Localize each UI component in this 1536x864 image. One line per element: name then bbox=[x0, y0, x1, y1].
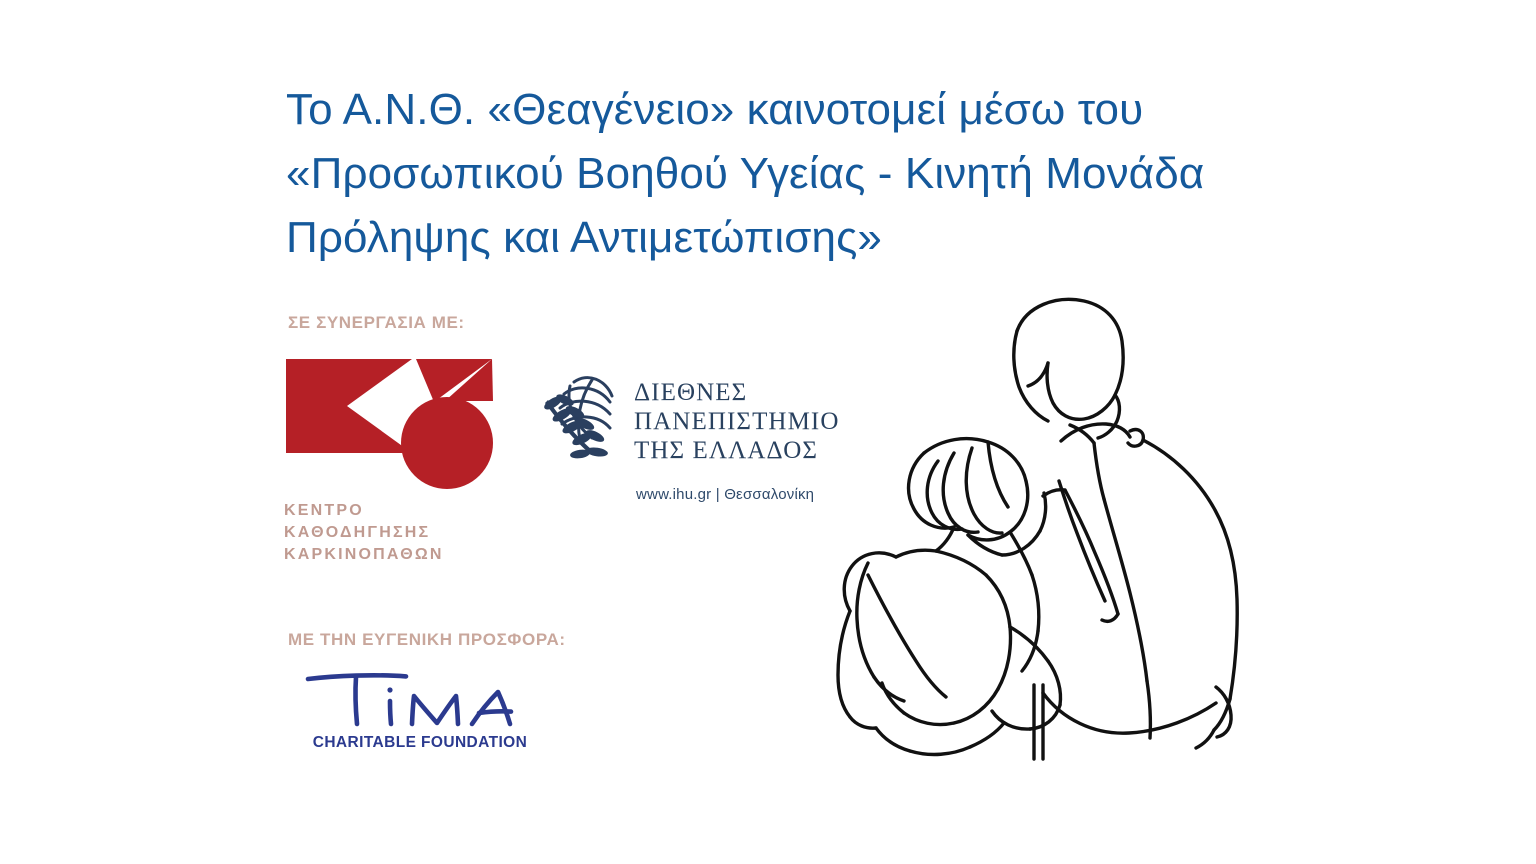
kkk-word-line-1: ΚΕΝΤΡΟ bbox=[284, 500, 499, 522]
ihu-word-line-3: ΤΗΣ ΕΛΛΑΔΟΣ bbox=[634, 436, 840, 465]
line-art-couple-embracing-illustration bbox=[812, 283, 1272, 765]
ihu-website-and-city: www.ihu.gr | Θεσσαλονίκη bbox=[636, 486, 840, 503]
tima-subtitle: CHARITABLE FOUNDATION bbox=[300, 734, 540, 752]
partners-label: ΣΕ ΣΥΝΕΡΓΑΣΙΑ ΜΕ: bbox=[288, 313, 465, 333]
logo-kentro-kathodigisis-karkinopathon: ΚΕΝΤΡΟ ΚΑΘΟΔΗΓΗΣΗΣ ΚΑΡΚΙΝΟΠΑΘΩΝ bbox=[284, 357, 499, 557]
ihu-olive-branch-globe-icon bbox=[540, 370, 624, 474]
title-line-2: «Προσωπικού Βοηθού Υγείας - Κινητή Μονάδ… bbox=[286, 142, 1296, 206]
ihu-word-line-2: ΠΑΝΕΠΙΣΤΗΜΙΟ bbox=[634, 407, 840, 436]
title-line-3: Πρόληψης και Αντιμετώπισης» bbox=[286, 206, 1296, 270]
donor-label: ΜΕ ΤΗΝ ΕΥΓΕΝΙΚΗ ΠΡΟΣΦΟΡΑ: bbox=[288, 630, 566, 650]
ihu-word-line-1: ΔΙΕΘΝΕΣ bbox=[634, 378, 840, 407]
slide-title: Το Α.Ν.Θ. «Θεαγένειο» καινοτομεί μέσω το… bbox=[286, 78, 1296, 270]
presentation-slide: Το Α.Ν.Θ. «Θεαγένειο» καινοτομεί μέσω το… bbox=[0, 0, 1536, 864]
logo-international-hellenic-university: ΔΙΕΘΝΕΣ ΠΑΝΕΠΙΣΤΗΜΙΟ ΤΗΣ ΕΛΛΑΔΟΣ www.ihu… bbox=[540, 368, 840, 513]
ihu-wordmark: ΔΙΕΘΝΕΣ ΠΑΝΕΠΙΣΤΗΜΙΟ ΤΗΣ ΕΛΛΑΔΟΣ bbox=[634, 368, 840, 465]
tima-wordmark-icon bbox=[300, 668, 540, 730]
kkk-wordmark: ΚΕΝΤΡΟ ΚΑΘΟΔΗΓΗΣΗΣ ΚΑΡΚΙΝΟΠΑΘΩΝ bbox=[284, 500, 499, 566]
kkk-word-line-3: ΚΑΡΚΙΝΟΠΑΘΩΝ bbox=[284, 544, 499, 566]
title-line-1: Το Α.Ν.Θ. «Θεαγένειο» καινοτομεί μέσω το… bbox=[286, 78, 1296, 142]
kkk-mark-icon bbox=[284, 357, 497, 492]
logo-tima-charitable-foundation: CHARITABLE FOUNDATION bbox=[300, 668, 550, 763]
kkk-word-line-2: ΚΑΘΟΔΗΓΗΣΗΣ bbox=[284, 522, 499, 544]
